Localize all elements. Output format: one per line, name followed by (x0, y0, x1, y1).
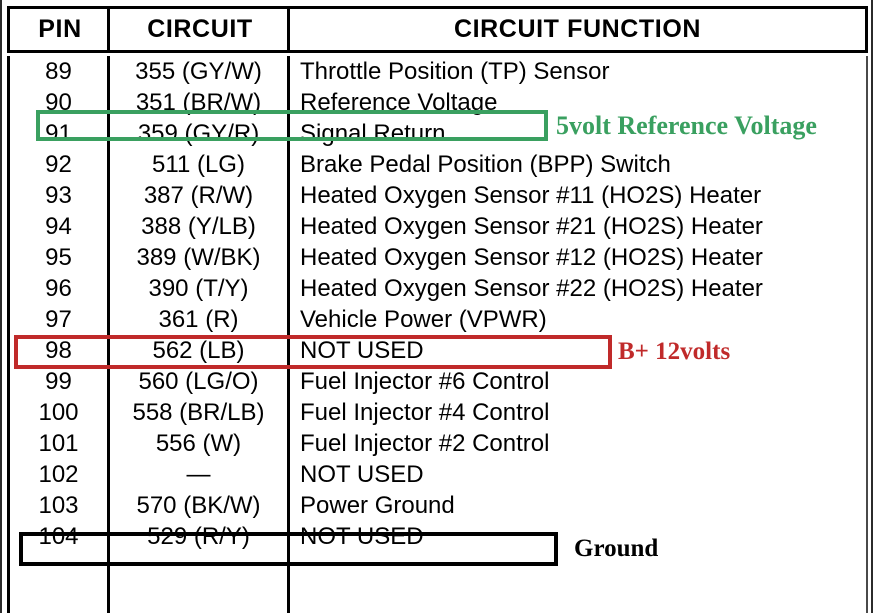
cell-pin: 101 (10, 428, 107, 459)
cell-circuit: 388 (Y/LB) (110, 211, 287, 242)
cell-circuit: 387 (R/W) (110, 180, 287, 211)
annotation-label-power-ground: Ground (574, 533, 658, 564)
table-row: 97361 (R)Vehicle Power (VPWR) (10, 304, 866, 335)
cell-circuit-function: Heated Oxygen Sensor #22 (HO2S) Heater (300, 273, 865, 304)
cell-pin: 100 (10, 397, 107, 428)
cell-circuit: 355 (GY/W) (110, 56, 287, 87)
table-row: 93387 (R/W)Heated Oxygen Sensor #11 (HO2… (10, 180, 866, 211)
cell-circuit: 558 (BR/LB) (110, 397, 287, 428)
table-row: 95389 (W/BK)Heated Oxygen Sensor #12 (HO… (10, 242, 866, 273)
table-row: 104529 (R/Y)NOT USED (10, 521, 866, 552)
page-edge-rule-right (871, 0, 873, 613)
column-header-pin: PIN (10, 9, 110, 50)
column-header-circuit: CIRCUIT (110, 9, 290, 50)
cell-pin: 89 (10, 56, 107, 87)
cell-circuit-function: Throttle Position (TP) Sensor (300, 56, 865, 87)
page-edge-rule-left (0, 0, 2, 613)
cell-circuit: 556 (W) (110, 428, 287, 459)
cell-circuit: 359 (GY/R) (110, 118, 287, 149)
cell-circuit-function: NOT USED (300, 335, 865, 366)
cell-pin: 91 (10, 118, 107, 149)
cell-circuit: 389 (W/BK) (110, 242, 287, 273)
table-row: 101556 (W)Fuel Injector #2 Control (10, 428, 866, 459)
cell-pin: 96 (10, 273, 107, 304)
cell-pin: 103 (10, 490, 107, 521)
table-row: 92511 (LG)Brake Pedal Position (BPP) Swi… (10, 149, 866, 180)
cell-circuit: — (110, 459, 287, 490)
scanned-page: PIN CIRCUIT CIRCUIT FUNCTION 89355 (GY/W… (0, 0, 874, 613)
cell-circuit-function: Power Ground (300, 490, 865, 521)
cell-pin: 93 (10, 180, 107, 211)
cell-circuit: 529 (R/Y) (110, 521, 287, 552)
cell-circuit-function: Fuel Injector #4 Control (300, 397, 865, 428)
annotation-label-vehicle-power: B+ 12volts (618, 336, 730, 367)
cell-circuit-function: NOT USED (300, 459, 865, 490)
cell-pin: 104 (10, 521, 107, 552)
table-row: 96390 (T/Y)Heated Oxygen Sensor #22 (HO2… (10, 273, 866, 304)
cell-pin: 102 (10, 459, 107, 490)
table-row: 102—NOT USED (10, 459, 866, 490)
cell-pin: 98 (10, 335, 107, 366)
cell-pin: 99 (10, 366, 107, 397)
cell-circuit: 562 (LB) (110, 335, 287, 366)
table-row: 99560 (LG/O)Fuel Injector #6 Control (10, 366, 866, 397)
cell-pin: 92 (10, 149, 107, 180)
cell-circuit: 570 (BK/W) (110, 490, 287, 521)
cell-circuit-function: Fuel Injector #2 Control (300, 428, 865, 459)
cell-circuit-function: Heated Oxygen Sensor #21 (HO2S) Heater (300, 211, 865, 242)
cell-circuit: 351 (BR/W) (110, 87, 287, 118)
cell-circuit: 511 (LG) (110, 149, 287, 180)
annotation-label-reference-voltage: 5volt Reference Voltage (556, 110, 817, 141)
table-row: 100558 (BR/LB)Fuel Injector #4 Control (10, 397, 866, 428)
cell-pin: 90 (10, 87, 107, 118)
cell-circuit: 560 (LG/O) (110, 366, 287, 397)
table-row: 103570 (BK/W)Power Ground (10, 490, 866, 521)
cell-pin: 95 (10, 242, 107, 273)
cell-circuit-function: Heated Oxygen Sensor #12 (HO2S) Heater (300, 242, 865, 273)
cell-pin: 97 (10, 304, 107, 335)
table-row: 94388 (Y/LB)Heated Oxygen Sensor #21 (HO… (10, 211, 866, 242)
cell-circuit-function: Fuel Injector #6 Control (300, 366, 865, 397)
column-header-circuit-function: CIRCUIT FUNCTION (290, 9, 865, 50)
cell-circuit-function: Vehicle Power (VPWR) (300, 304, 865, 335)
cell-pin: 94 (10, 211, 107, 242)
table-row: 89355 (GY/W)Throttle Position (TP) Senso… (10, 56, 866, 87)
cell-circuit: 361 (R) (110, 304, 287, 335)
cell-circuit: 390 (T/Y) (110, 273, 287, 304)
table-header-row: PIN CIRCUIT CIRCUIT FUNCTION (7, 6, 868, 53)
table-row: 98562 (LB)NOT USED (10, 335, 866, 366)
cell-circuit-function: Heated Oxygen Sensor #11 (HO2S) Heater (300, 180, 865, 211)
cell-circuit-function: Brake Pedal Position (BPP) Switch (300, 149, 865, 180)
